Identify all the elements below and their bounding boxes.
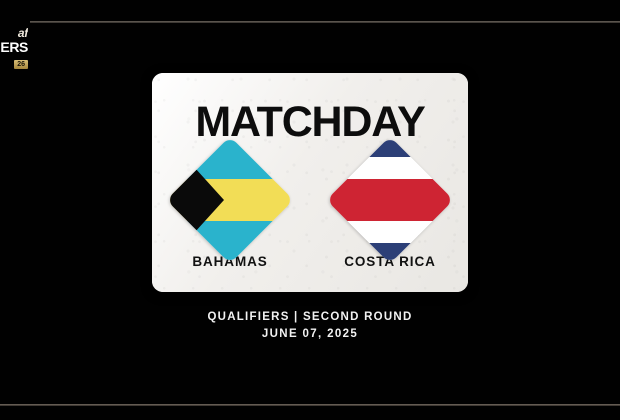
costa-rica-flag-diamond-clip [326,136,453,263]
costa-rica-flag-bands [326,136,453,263]
costa-rica-flag-inner [326,136,453,263]
bahamas-flag-diamond-clip [166,136,293,263]
matchup-row: BAHAMAS [152,155,468,269]
costa-rica-band-lower-white [326,221,453,242]
costa-rica-flag-icon [345,155,435,245]
broadcaster-logo-bug: af ERS 26 [0,27,28,79]
caption-block: QUALIFIERS | SECOND ROUND JUNE 07, 2025 [0,309,620,342]
bahamas-flag-icon [185,155,275,245]
bahamas-hoist-triangle [166,136,224,263]
bahamas-flag-inner [166,136,293,263]
broadcast-frame: af ERS 26 MATCHDAY [0,0,620,420]
broadcaster-bug-line-1: af [0,27,28,39]
caption-date: JUNE 07, 2025 [0,326,620,343]
costa-rica-band-upper-white [326,157,453,178]
costa-rica-band-center-red [326,179,453,222]
broadcaster-bug-badge: 26 [14,60,28,69]
page-title: MATCHDAY [152,101,468,144]
team-block-away: COSTA RICA [338,155,442,269]
caption-competition: QUALIFIERS | SECOND ROUND [0,309,620,326]
matchday-card: MATCHDAY BAHAMAS [152,73,468,292]
top-divider-rule [30,21,620,23]
broadcaster-bug-line-2: ERS [0,40,28,54]
team-block-home: BAHAMAS [178,155,282,269]
bottom-divider-rule [0,404,620,406]
